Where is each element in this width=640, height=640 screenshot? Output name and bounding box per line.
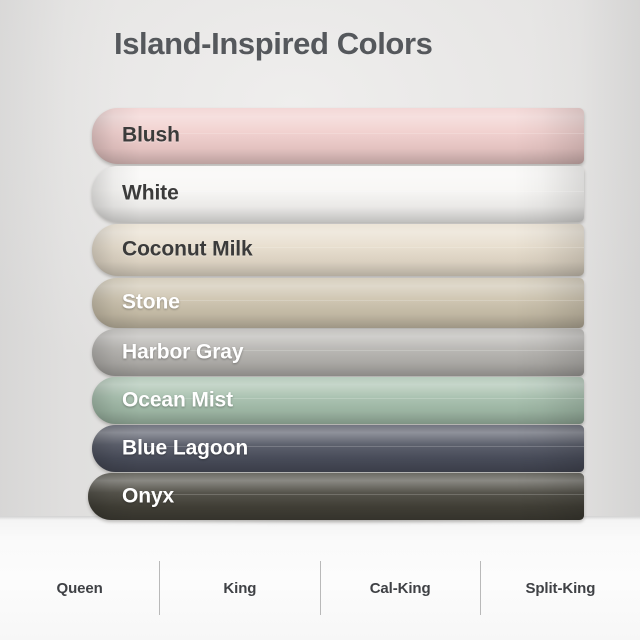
size-option-king[interactable]: King — [160, 580, 319, 597]
sheet-stack: Blush White Coconut Milk Stone — [92, 108, 584, 520]
fold-right-shadow — [514, 377, 584, 424]
size-option-cal-king[interactable]: Cal-King — [321, 580, 480, 597]
fold-right-shadow — [514, 425, 584, 472]
size-option-split-king[interactable]: Split-King — [481, 580, 640, 597]
sheet-layer-coconut-milk[interactable]: Coconut Milk — [92, 224, 584, 276]
fabric-seam — [144, 191, 584, 192]
sheet-layer-stone[interactable]: Stone — [92, 278, 584, 328]
sheet-layer-blush[interactable]: Blush — [92, 108, 584, 164]
fabric-seam — [140, 494, 584, 495]
fold-right-shadow — [514, 166, 584, 222]
sheet-layer-harbor-gray[interactable]: Harbor Gray — [92, 329, 584, 376]
fabric-seam — [144, 133, 584, 134]
sheet-label-ocean-mist: Ocean Mist — [122, 388, 233, 412]
fold-right-shadow — [514, 224, 584, 276]
product-color-chart: Island-Inspired Colors Blush White Cocon… — [0, 0, 640, 640]
fold-right-shadow — [514, 329, 584, 376]
sheet-label-stone: Stone — [122, 291, 180, 315]
size-option-queen[interactable]: Queen — [0, 580, 159, 597]
sheet-label-harbor-gray: Harbor Gray — [122, 340, 243, 364]
sheet-label-blush: Blush — [122, 124, 180, 148]
sheet-label-white: White — [122, 182, 179, 206]
sheet-layer-onyx[interactable]: Onyx — [88, 473, 584, 520]
size-options-bar: Queen King Cal-King Split-King — [0, 552, 640, 624]
fold-right-shadow — [514, 278, 584, 328]
sheet-layer-white[interactable]: White — [92, 166, 584, 222]
sheet-label-blue-lagoon: Blue Lagoon — [122, 436, 248, 460]
sheet-label-onyx: Onyx — [122, 484, 174, 508]
fold-right-shadow — [514, 473, 584, 520]
page-title: Island-Inspired Colors — [114, 26, 432, 62]
sheet-layer-ocean-mist[interactable]: Ocean Mist — [92, 377, 584, 424]
fold-right-shadow — [514, 108, 584, 164]
sheet-label-coconut-milk: Coconut Milk — [122, 238, 253, 262]
fabric-seam — [144, 300, 584, 301]
sheet-layer-blue-lagoon[interactable]: Blue Lagoon — [92, 425, 584, 472]
